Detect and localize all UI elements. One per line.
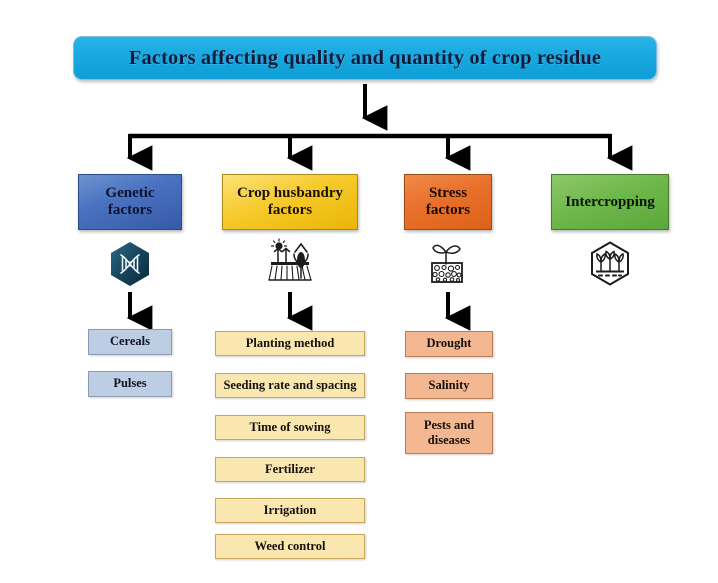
leaf-box-pests-and-diseases[interactable]: Pests anddiseases xyxy=(405,412,493,454)
leaf-box-pulses[interactable]: Pulses xyxy=(88,371,172,397)
category-box-genetic[interactable]: Geneticfactors xyxy=(78,174,182,230)
leaf-label-pulses: Pulses xyxy=(110,376,149,391)
leaf-box-time-of-sowing[interactable]: Time of sowing xyxy=(215,415,365,440)
leaf-box-fertilizer[interactable]: Fertilizer xyxy=(215,457,365,482)
category-box-stress[interactable]: Stressfactors xyxy=(404,174,492,230)
leaf-label-seeding-rate: Seeding rate and spacing xyxy=(220,378,359,393)
category-label-stress: Stressfactors xyxy=(422,185,474,219)
leaf-label-cereals: Cereals xyxy=(107,334,153,349)
connector-lines xyxy=(0,0,718,583)
leaf-box-seeding-rate[interactable]: Seeding rate and spacing xyxy=(215,373,365,398)
category-label-genetic: Geneticfactors xyxy=(101,185,158,219)
leaf-box-weed-control[interactable]: Weed control xyxy=(215,534,365,559)
leaf-label-pests-and-diseases: Pests anddiseases xyxy=(421,418,477,449)
crop-residue-factors-diagram: Factors affecting quality and quantity o… xyxy=(0,0,718,583)
leaf-box-cereals[interactable]: Cereals xyxy=(88,329,172,355)
category-box-husbandry[interactable]: Crop husbandryfactors xyxy=(222,174,358,230)
leaf-box-salinity[interactable]: Salinity xyxy=(405,373,493,399)
leaf-label-salinity: Salinity xyxy=(426,378,473,393)
leaf-box-irrigation[interactable]: Irrigation xyxy=(215,498,365,523)
wilting-seedling-icon xyxy=(423,238,471,288)
leaf-box-drought[interactable]: Drought xyxy=(405,331,493,357)
leaf-label-irrigation: Irrigation xyxy=(261,503,320,518)
intercrop-hexagon-icon xyxy=(586,240,634,288)
category-box-intercropping[interactable]: Intercropping xyxy=(551,174,669,230)
diagram-title-text: Factors affecting quality and quantity o… xyxy=(129,47,601,70)
leaf-box-planting-method[interactable]: Planting method xyxy=(215,331,365,356)
farm-field-icon xyxy=(265,238,315,288)
leaf-label-time-of-sowing: Time of sowing xyxy=(246,420,333,435)
leaf-label-weed-control: Weed control xyxy=(252,539,329,554)
category-label-intercropping: Intercropping xyxy=(561,194,658,211)
diagram-title-box: Factors affecting quality and quantity o… xyxy=(73,36,657,80)
leaf-label-fertilizer: Fertilizer xyxy=(262,462,318,477)
leaf-label-drought: Drought xyxy=(424,336,475,351)
dna-hexagon-icon xyxy=(106,240,154,288)
leaf-label-planting-method: Planting method xyxy=(243,336,338,351)
category-label-husbandry: Crop husbandryfactors xyxy=(233,185,347,219)
